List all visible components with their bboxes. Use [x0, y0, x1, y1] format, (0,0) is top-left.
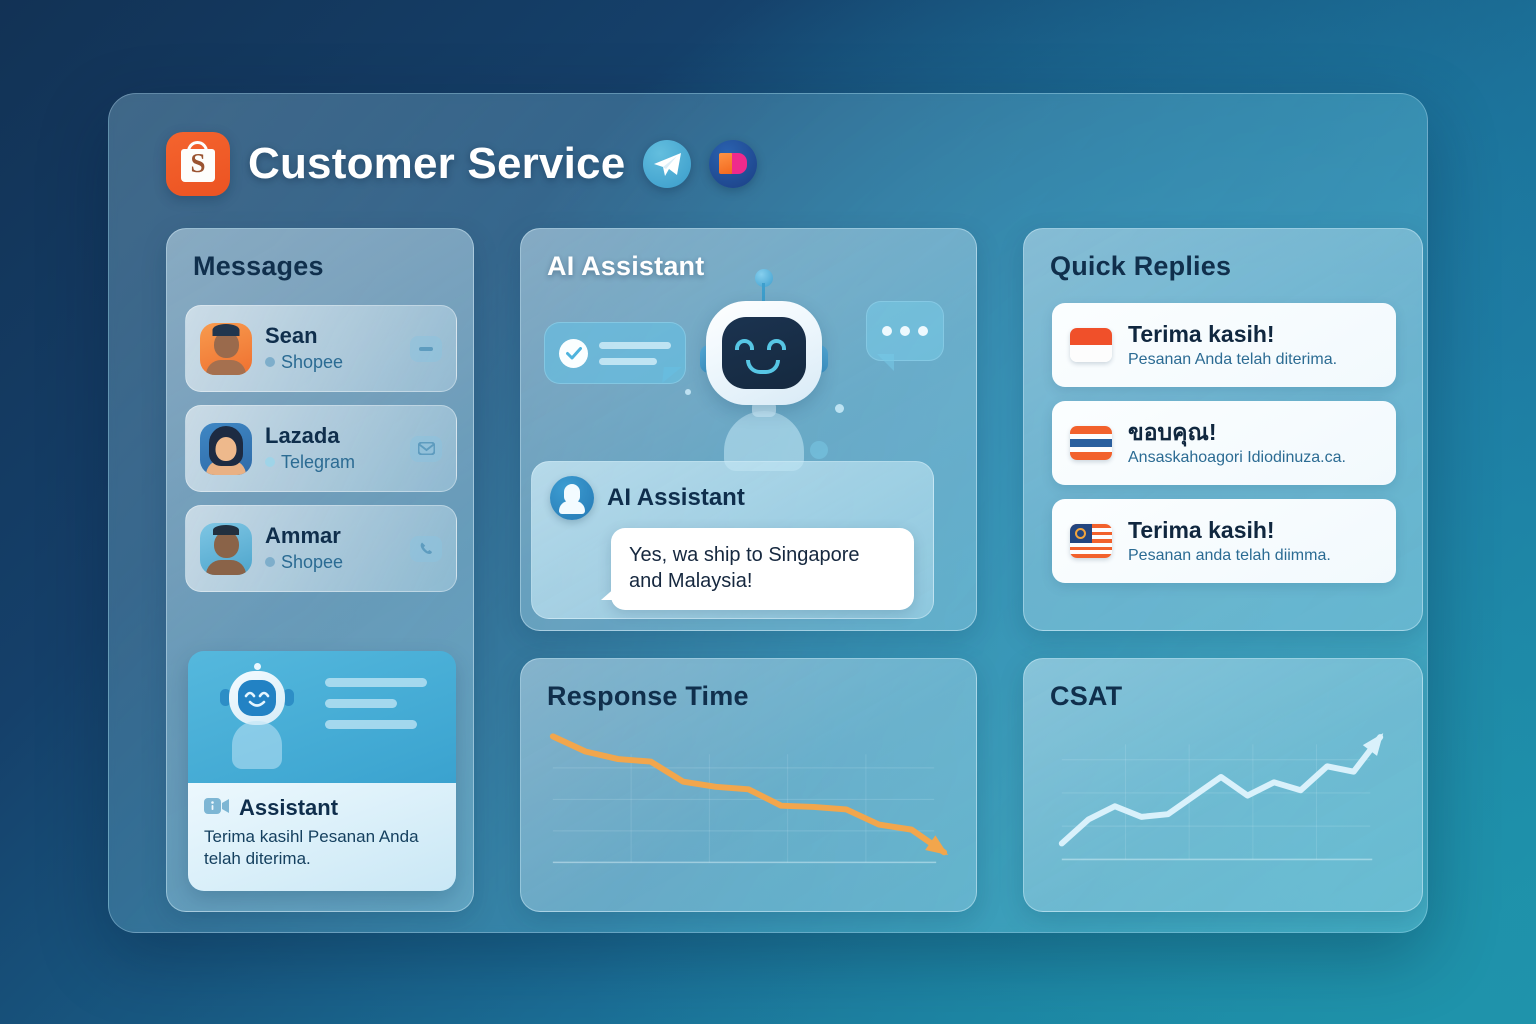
robot-face-screen — [722, 317, 806, 389]
assistant-card-text-lines — [325, 678, 427, 741]
csat-chart — [1024, 659, 1422, 911]
text-line — [599, 358, 657, 365]
quick-reply-texts: Terima kasih! Pesanan Anda telah diterim… — [1128, 321, 1337, 368]
avatar-shoulders — [206, 360, 246, 375]
check-circle-icon — [559, 339, 588, 368]
flag-canton — [1070, 524, 1092, 543]
indonesia-flag — [1070, 328, 1112, 362]
robot-eye-right — [767, 339, 786, 350]
ai-assistant-panel: AI Assistant — [520, 228, 977, 631]
assistant-preview-card[interactable]: Assistant Terima kasihl Pesanan Anda tel… — [188, 651, 456, 891]
status-dot — [265, 357, 275, 367]
lazada-heart-glyph — [732, 153, 747, 174]
quick-reply-subtitle: Ansaskahoagori Idiodinuza.ca. — [1128, 449, 1346, 467]
list-item[interactable]: Terima kasih! Pesanan anda telah diimma. — [1052, 499, 1396, 583]
avatar-body — [559, 501, 585, 514]
response-time-chart — [521, 659, 976, 911]
avatar-face-front — [216, 437, 237, 475]
video-camera-glyph — [204, 796, 230, 816]
mail-glyph — [418, 442, 435, 455]
robot-body — [232, 721, 282, 769]
contact-name: Lazada — [265, 424, 410, 448]
quick-reply-title: Terima kasih! — [1128, 517, 1331, 543]
robot-head — [706, 301, 822, 405]
sparkle-icon — [810, 441, 828, 459]
robot-head — [229, 671, 285, 725]
avatar-hair — [213, 324, 240, 336]
chat-message-card[interactable]: AI Assistant Yes, wa ship to Singapore a… — [531, 461, 934, 619]
quick-replies-panel-title: Quick Replies — [1050, 251, 1231, 282]
trend-line — [1062, 737, 1380, 843]
trend-line — [553, 736, 944, 852]
dot — [900, 326, 910, 336]
bubble-text-lines — [599, 342, 671, 374]
response-time-panel: Response Time — [520, 658, 977, 912]
app-background: S Customer Service Messages — [0, 0, 1536, 1024]
check-glyph — [566, 347, 582, 360]
lazada-icon[interactable] — [709, 140, 757, 188]
crescent-icon — [1075, 528, 1086, 539]
flag-band — [1070, 328, 1112, 345]
avatar-head-front — [216, 437, 237, 461]
assistant-card-illustration — [188, 651, 456, 783]
minus-glyph — [419, 347, 433, 351]
contact-name: Sean — [265, 324, 410, 348]
chat-bubble-left — [544, 322, 686, 384]
response-time-chart-svg — [521, 659, 976, 911]
assistant-card-body: Assistant Terima kasihl Pesanan Anda tel… — [188, 783, 456, 891]
ai-assistant-illustration — [521, 229, 977, 479]
shopee-icon[interactable]: S — [166, 132, 230, 196]
avatar-face — [206, 331, 246, 375]
page-title: Customer Service — [248, 139, 625, 189]
contact-name: Ammar — [265, 524, 410, 548]
avatar — [550, 476, 594, 520]
list-item[interactable]: Sean Shopee — [185, 305, 457, 392]
avatar-shoulders — [206, 560, 246, 575]
contact-channel-row: Shopee — [265, 552, 410, 573]
robot-illustration — [700, 267, 828, 447]
phone-glyph — [419, 541, 434, 556]
quick-reply-title: ขอบคุณ! — [1128, 419, 1346, 445]
messages-list: Sean Shopee — [185, 305, 457, 605]
messages-panel-title: Messages — [193, 251, 324, 282]
mail-icon[interactable] — [410, 436, 442, 462]
channel-label: Shopee — [281, 552, 343, 573]
flag-band — [1070, 452, 1112, 460]
malaysia-flag — [1070, 524, 1112, 558]
chat-sender-name: AI Assistant — [607, 484, 745, 512]
robot-smile-glyph — [238, 680, 276, 716]
csat-chart-svg — [1024, 659, 1422, 911]
quick-reply-subtitle: Pesanan anda telah diimma. — [1128, 547, 1331, 565]
assistant-card-text: Terima kasihl Pesanan Anda telah diterim… — [204, 826, 440, 870]
quick-reply-texts: ขอบคุณ! Ansaskahoagori Idiodinuza.ca. — [1128, 419, 1346, 466]
quick-replies-list: Terima kasih! Pesanan Anda telah diterim… — [1052, 303, 1396, 597]
robot-face-screen — [238, 680, 276, 716]
list-item[interactable]: Terima kasih! Pesanan Anda telah diterim… — [1052, 303, 1396, 387]
text-line — [599, 342, 671, 349]
list-item[interactable]: Lazada Telegram — [185, 405, 457, 492]
dot — [918, 326, 928, 336]
chat-card-header: AI Assistant — [550, 476, 745, 520]
quick-reply-texts: Terima kasih! Pesanan anda telah diimma. — [1128, 517, 1331, 564]
sparkle-icon — [835, 404, 844, 413]
list-item-meta: Ammar Shopee — [265, 524, 410, 572]
robot-mouth — [746, 360, 780, 374]
shopee-letter: S — [166, 150, 230, 177]
list-item-meta: Lazada Telegram — [265, 424, 410, 472]
text-line — [325, 678, 427, 687]
telegram-icon[interactable] — [643, 140, 691, 188]
thailand-flag — [1070, 426, 1112, 460]
paper-plane-glyph — [652, 152, 682, 178]
dot — [882, 326, 892, 336]
channel-label: Shopee — [281, 352, 343, 373]
typing-dots-icon — [882, 326, 928, 336]
video-camera-icon — [204, 796, 230, 821]
chat-message-text: Yes, wa ship to Singapore and Malaysia! — [629, 542, 896, 595]
chat-bubble-right — [866, 301, 944, 361]
robot-icon — [218, 663, 296, 773]
contact-channel-row: Telegram — [265, 452, 410, 473]
messages-panel: Messages Sean Sho — [166, 228, 474, 912]
quick-reply-title: Terima kasih! — [1128, 321, 1337, 347]
sparkle-icon — [685, 389, 691, 395]
text-line — [325, 720, 417, 729]
lazada-box-glyph — [719, 153, 733, 174]
status-dot — [265, 457, 275, 467]
flag-stripe — [1070, 554, 1112, 558]
app-header: S Customer Service — [166, 132, 757, 196]
flag-band — [1070, 439, 1112, 446]
flag-band — [1070, 345, 1112, 362]
avatar-face — [206, 531, 246, 575]
dashboard-window: S Customer Service Messages — [108, 93, 1428, 933]
assistant-card-title: Assistant — [239, 795, 338, 821]
list-item[interactable]: Ammar Shopee — [185, 505, 457, 592]
avatar — [200, 323, 252, 375]
contact-channel-row: Shopee — [265, 352, 410, 373]
csat-panel: CSAT — [1023, 658, 1423, 912]
flag-band — [1070, 426, 1112, 434]
robot-antenna — [254, 663, 261, 670]
quick-reply-subtitle: Pesanan Anda telah diterima. — [1128, 351, 1337, 369]
status-dot — [265, 557, 275, 567]
assistant-card-header: Assistant — [204, 795, 440, 821]
avatar-hair — [213, 525, 239, 535]
text-line — [325, 699, 397, 708]
avatar-head — [214, 531, 239, 558]
avatar — [200, 523, 252, 575]
channel-label: Telegram — [281, 452, 355, 473]
quick-replies-panel: Quick Replies Terima kasih! Pesanan Anda… — [1023, 228, 1423, 631]
robot-eye-left — [735, 339, 754, 350]
list-item[interactable]: ขอบคุณ! Ansaskahoagori Idiodinuza.ca. — [1052, 401, 1396, 485]
list-item-meta: Sean Shopee — [265, 324, 410, 372]
avatar — [200, 423, 252, 475]
minus-icon[interactable] — [410, 336, 442, 362]
chat-bubble: Yes, wa ship to Singapore and Malaysia! — [611, 528, 914, 610]
phone-icon[interactable] — [410, 536, 442, 562]
